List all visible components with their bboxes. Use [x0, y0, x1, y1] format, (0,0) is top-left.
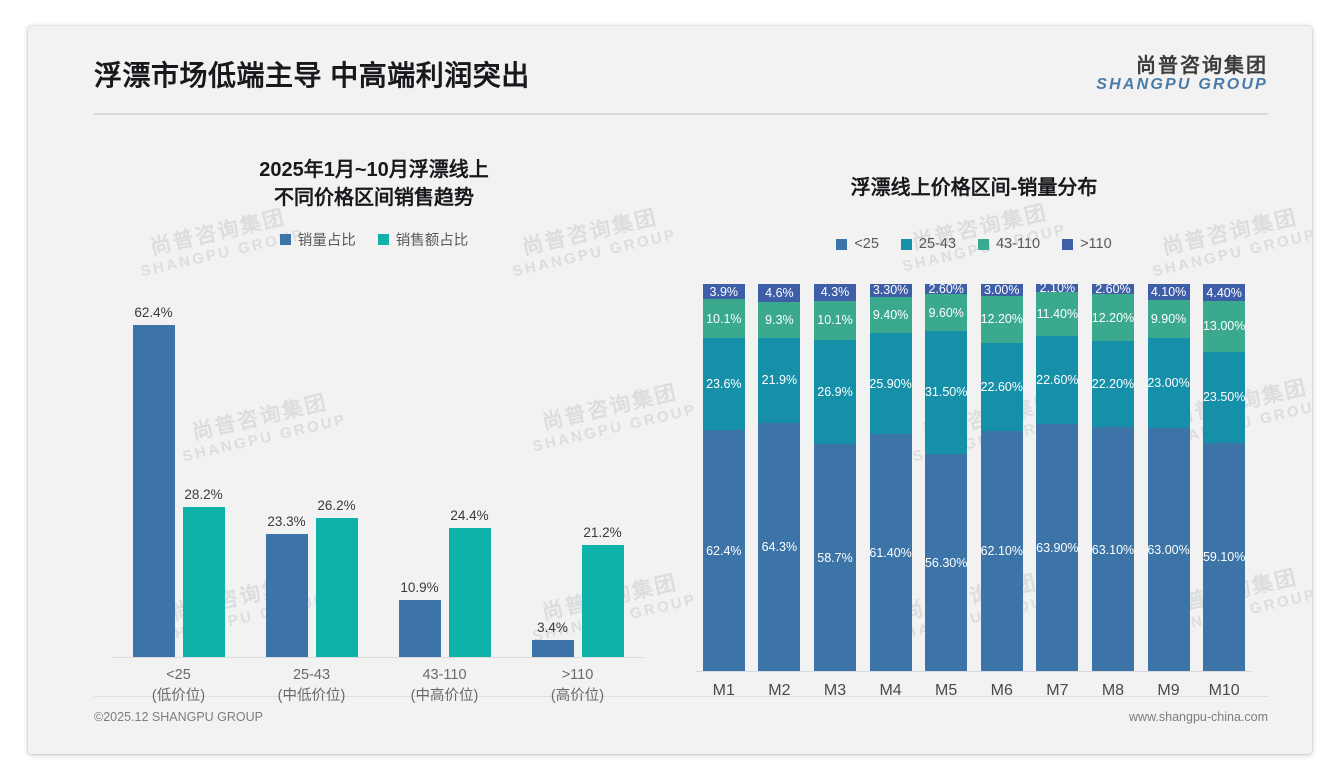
legend-swatch-icon [836, 239, 847, 250]
stack-segment[interactable]: 22.60% [981, 343, 1023, 431]
left-chart-panel: 2025年1月~10月浮漂线上 不同价格区间销售趋势 销量占比销售额占比 62.… [94, 156, 654, 716]
bar-value-label: 26.2% [317, 498, 355, 513]
stack-segment[interactable]: 23.6% [703, 338, 745, 430]
stack-segment-value-label: 11.40% [1037, 307, 1078, 321]
stack-segment-value-label: 23.00% [1148, 376, 1190, 390]
legend-swatch-icon [378, 234, 389, 245]
stack-segment-value-label: 21.9% [762, 373, 797, 387]
stack: 3.00%12.20%22.60%62.10% [981, 284, 1023, 672]
right-chart-x-ticks: M1M2M3M4M5M6M7M8M9M10 [696, 672, 1252, 716]
x-axis-tick-label: M7 [1030, 672, 1086, 716]
bar-column[interactable]: 10.9% [399, 284, 441, 658]
stack-segment[interactable]: 13.00% [1203, 301, 1245, 351]
stack-segment-value-label: 2.60% [928, 284, 963, 294]
stack-segment[interactable]: 31.50% [925, 331, 967, 453]
stack-segment-value-label: 22.60% [981, 380, 1023, 394]
bar[interactable] [449, 528, 491, 658]
stack-segment-value-label: 9.3% [765, 313, 794, 327]
stack-segment-value-label: 3.30% [873, 284, 908, 297]
bar-value-label: 23.3% [267, 514, 305, 529]
stack-segment[interactable]: 10.1% [814, 301, 856, 340]
stack-segment[interactable]: 9.40% [870, 297, 912, 333]
stack: 4.6%9.3%21.9%64.3% [758, 284, 800, 672]
stack-segment-value-label: 9.40% [873, 308, 908, 322]
stack-segment[interactable]: 58.7% [814, 444, 856, 672]
stack-segment-value-label: 63.90% [1036, 541, 1078, 555]
stack-segment[interactable]: 23.00% [1148, 338, 1190, 427]
bar[interactable] [183, 507, 225, 658]
bar[interactable] [133, 325, 175, 658]
stack-segment[interactable]: 4.10% [1148, 284, 1190, 300]
stack: 2.60%12.20%22.20%63.10% [1092, 284, 1134, 672]
stack-segment[interactable]: 25.90% [870, 333, 912, 433]
legend-item-2[interactable]: 25-43 [901, 236, 956, 252]
legend-label: >110 [1080, 236, 1112, 252]
left-chart-title: 2025年1月~10月浮漂线上 不同价格区间销售趋势 [94, 156, 654, 213]
bar-value-label: 3.4% [537, 620, 568, 635]
stack-segment[interactable]: 56.30% [925, 454, 967, 672]
bar-group: 62.4%28.2% [112, 284, 245, 658]
stack-segment[interactable]: 22.20% [1092, 341, 1134, 427]
stack-segment[interactable]: 63.10% [1092, 427, 1134, 672]
bar-group: 3.4%21.2% [511, 284, 644, 658]
logo-chinese-text: 尚普咨询集团 [1096, 56, 1268, 77]
stack-segment[interactable]: 59.10% [1203, 443, 1245, 672]
x-axis-tick-label: M9 [1141, 672, 1197, 716]
stack-segment[interactable]: 63.90% [1036, 424, 1078, 672]
stack-segment-value-label: 9.90% [1151, 312, 1186, 326]
stack-segment[interactable]: 4.6% [758, 284, 800, 302]
legend-swatch-icon [978, 239, 989, 250]
stack-segment-value-label: 63.00% [1148, 543, 1190, 557]
stack-segment-value-label: 12.20% [981, 312, 1023, 326]
bar[interactable] [399, 600, 441, 658]
legend-label: 销量占比 [298, 229, 356, 250]
left-chart-title-line1: 2025年1月~10月浮漂线上 [94, 156, 654, 184]
stack-segment[interactable]: 11.40% [1036, 292, 1078, 336]
stack-segment[interactable]: 2.60% [925, 284, 967, 294]
stack-segment[interactable]: 22.60% [1036, 336, 1078, 424]
stack-segment[interactable]: 26.9% [814, 340, 856, 444]
stack-segment-value-label: 22.60% [1036, 373, 1078, 387]
left-chart-legend: 销量占比销售额占比 [94, 229, 654, 250]
bar-column[interactable]: 23.3% [266, 284, 308, 658]
legend-item-1[interactable]: <25 [836, 236, 879, 252]
stack: 2.10%11.40%22.60%63.90% [1036, 284, 1078, 672]
stack-segment[interactable]: 64.3% [758, 423, 800, 672]
x-axis-tick-label: <25(低价位) [112, 658, 245, 716]
x-axis-tick-label: M4 [863, 672, 919, 716]
bar[interactable] [316, 518, 358, 658]
stacked-bar-column[interactable]: 3.9%10.1%23.6%62.4% [696, 284, 752, 672]
legend-label: <25 [854, 236, 879, 252]
stack-segment-value-label: 4.6% [765, 286, 794, 300]
bar-value-label: 21.2% [583, 525, 621, 540]
stack-segment[interactable]: 2.60% [1092, 284, 1134, 294]
stack: 4.3%10.1%26.9%58.7% [814, 284, 856, 672]
page-title: 浮漂市场低端主导 中高端利润突出 [94, 54, 530, 94]
stack-segment[interactable]: 12.20% [1092, 294, 1134, 341]
stack-segment[interactable]: 62.10% [981, 431, 1023, 672]
stack-segment-value-label: 23.6% [706, 377, 741, 391]
stack: 4.40%13.00%23.50%59.10% [1203, 284, 1245, 672]
stacked-bar-column[interactable]: 3.00%12.20%22.60%62.10% [974, 284, 1030, 672]
stack-segment[interactable]: 62.4% [703, 430, 745, 672]
legend-item-4[interactable]: >110 [1062, 236, 1112, 252]
legend-label: 25-43 [919, 236, 956, 252]
x-axis-tick-label: M8 [1085, 672, 1141, 716]
stack-segment-value-label: 2.60% [1095, 284, 1130, 294]
stack-segment-value-label: 26.9% [817, 385, 852, 399]
x-axis-tick-label: M6 [974, 672, 1030, 716]
bar-value-label: 24.4% [450, 508, 488, 523]
bar-column[interactable]: 62.4% [133, 284, 175, 658]
stack-segment[interactable]: 9.3% [758, 302, 800, 338]
stacked-bar-column[interactable]: 4.10%9.90%23.00%63.00% [1141, 284, 1197, 672]
x-axis-tick-label: M10 [1196, 672, 1252, 716]
stack-segment[interactable]: 21.9% [758, 338, 800, 423]
legend-item-3[interactable]: 43-110 [978, 236, 1040, 252]
bar[interactable] [582, 545, 624, 658]
x-axis-tick-label: M5 [918, 672, 974, 716]
stack-segment[interactable]: 10.1% [703, 299, 745, 338]
stack-segment-value-label: 22.20% [1092, 377, 1134, 391]
stack-segment-value-label: 31.50% [925, 385, 967, 399]
stack-segment-value-label: 23.50% [1203, 390, 1245, 404]
stack-segment[interactable]: 3.9% [703, 284, 745, 299]
logo-english-text: SHANGPU GROUP [1096, 77, 1268, 94]
bar-value-label: 28.2% [184, 487, 222, 502]
stack-segment[interactable]: 12.20% [981, 296, 1023, 343]
stack-segment-value-label: 56.30% [925, 556, 967, 570]
company-logo: 尚普咨询集团 SHANGPU GROUP [1096, 56, 1268, 94]
legend-swatch-icon [280, 234, 291, 245]
stacked-bar-column[interactable]: 3.30%9.40%25.90%61.40% [863, 284, 919, 672]
bar-column[interactable]: 3.4% [532, 284, 574, 658]
legend-swatch-icon [901, 239, 912, 250]
stacked-bar-column[interactable]: 4.40%13.00%23.50%59.10% [1196, 284, 1252, 672]
stack-segment-value-label: 3.9% [710, 285, 739, 299]
stack-segment-value-label: 2.10% [1040, 284, 1075, 292]
right-chart-panel: 浮漂线上价格区间-销量分布 <2525-4343-110>110 3.9%10.… [674, 156, 1274, 716]
stack-segment-value-label: 64.3% [762, 540, 797, 554]
stack-segment-value-label: 59.10% [1203, 550, 1245, 564]
stack-segment[interactable]: 9.60% [925, 294, 967, 331]
bar-column[interactable]: 26.2% [316, 284, 358, 658]
stack-segment-value-label: 61.40% [870, 546, 912, 560]
stack: 3.30%9.40%25.90%61.40% [870, 284, 912, 672]
left-chart-plot: 62.4%28.2%23.3%26.2%10.9%24.4%3.4%21.2% … [112, 284, 644, 716]
stack-segment[interactable]: 3.00% [981, 284, 1023, 296]
x-axis-tick-label: 25-43(中低价位) [245, 658, 378, 716]
stack-segment-value-label: 9.60% [928, 306, 963, 320]
bar-value-label: 62.4% [134, 305, 172, 320]
legend-label: 43-110 [996, 236, 1040, 252]
stack-segment-value-label: 4.3% [821, 285, 850, 299]
stack-segment-value-label: 58.7% [817, 551, 852, 565]
stack-segment[interactable]: 23.50% [1203, 352, 1245, 443]
legend-item-1[interactable]: 销量占比 [280, 229, 356, 250]
stack-segment[interactable]: 2.10% [1036, 284, 1078, 292]
stack-segment-value-label: 3.00% [984, 284, 1019, 296]
x-axis-tick-label: M2 [752, 672, 808, 716]
stack-segment-value-label: 62.4% [706, 544, 741, 558]
stacked-bar-column[interactable]: 2.60%9.60%31.50%56.30% [918, 284, 974, 672]
stack-segment-value-label: 4.40% [1206, 286, 1241, 300]
stack-segment[interactable]: 9.90% [1148, 300, 1190, 338]
stack-segment-value-label: 25.90% [870, 377, 912, 391]
right-chart-plot: 3.9%10.1%23.6%62.4%4.6%9.3%21.9%64.3%4.3… [696, 284, 1252, 716]
x-axis-tick-label: M1 [696, 672, 752, 716]
left-chart-title-line2: 不同价格区间销售趋势 [94, 184, 654, 212]
right-chart-legend: <2525-4343-110>110 [674, 236, 1274, 252]
stack-segment[interactable]: 63.00% [1148, 428, 1190, 672]
legend-label: 销售额占比 [396, 229, 469, 250]
stacked-bar-column[interactable]: 2.60%12.20%22.20%63.10% [1085, 284, 1141, 672]
legend-swatch-icon [1062, 239, 1073, 250]
stack-segment-value-label: 63.10% [1092, 543, 1134, 557]
slide: 尚普咨询集团SHANGPU GROUP尚普咨询集团SHANGPU GROUP尚普… [28, 26, 1312, 754]
stack-segment-value-label: 13.00% [1203, 319, 1245, 333]
x-axis-tick-label: 43-110(中高价位) [378, 658, 511, 716]
stack: 4.10%9.90%23.00%63.00% [1148, 284, 1190, 672]
stack-segment-value-label: 4.10% [1151, 285, 1186, 299]
left-chart-x-ticks: <25(低价位)25-43(中低价位)43-110(中高价位)>110(高价位) [112, 658, 644, 716]
stack-segment[interactable]: 4.40% [1203, 284, 1245, 301]
bar-column[interactable]: 28.2% [183, 284, 225, 658]
bar-column[interactable]: 24.4% [449, 284, 491, 658]
bar-value-label: 10.9% [400, 580, 438, 595]
stack-segment[interactable]: 4.3% [814, 284, 856, 301]
right-chart-title: 浮漂线上价格区间-销量分布 [674, 156, 1274, 202]
x-axis-tick-label: M3 [807, 672, 863, 716]
stacked-bar-column[interactable]: 4.3%10.1%26.9%58.7% [807, 284, 863, 672]
bar-group: 10.9%24.4% [378, 284, 511, 658]
stack: 3.9%10.1%23.6%62.4% [703, 284, 745, 672]
bar-group: 23.3%26.2% [245, 284, 378, 658]
legend-item-2[interactable]: 销售额占比 [378, 229, 469, 250]
bar-column[interactable]: 21.2% [582, 284, 624, 658]
stack-segment[interactable]: 3.30% [870, 284, 912, 297]
x-axis-tick-label: >110(高价位) [511, 658, 644, 716]
stack-segment-value-label: 10.1% [706, 312, 741, 326]
bar[interactable] [532, 640, 574, 658]
stack: 2.60%9.60%31.50%56.30% [925, 284, 967, 672]
stack-segment-value-label: 10.1% [817, 313, 852, 327]
stack-segment[interactable]: 61.40% [870, 434, 912, 672]
header-divider [94, 113, 1268, 115]
stack-segment-value-label: 12.20% [1092, 311, 1134, 325]
stacked-bar-column[interactable]: 4.6%9.3%21.9%64.3% [752, 284, 808, 672]
stacked-bar-column[interactable]: 2.10%11.40%22.60%63.90% [1030, 284, 1086, 672]
stack-segment-value-label: 62.10% [981, 544, 1023, 558]
bar[interactable] [266, 534, 308, 658]
slide-header: 浮漂市场低端主导 中高端利润突出 尚普咨询集团 SHANGPU GROUP [28, 26, 1312, 119]
